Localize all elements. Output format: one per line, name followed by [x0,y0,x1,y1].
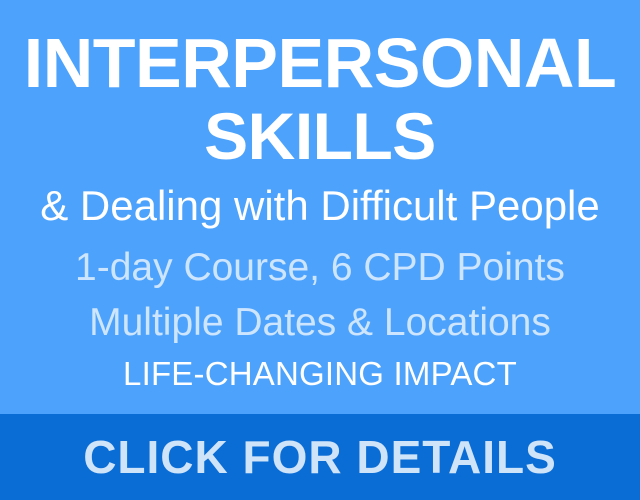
banner-body: INTERPERSONAL SKILLS & Dealing with Diff… [0,0,640,414]
detail-line-dates-locations: Multiple Dates & Locations [0,295,640,350]
advertisement-banner[interactable]: INTERPERSONAL SKILLS & Dealing with Diff… [0,0,640,500]
headline-line-secondary: SKILLS [0,100,640,172]
headline-block: INTERPERSONAL SKILLS [0,26,640,172]
detail-line-course-length: 1-day Course, 6 CPD Points [0,240,640,295]
cta-bar[interactable]: CLICK FOR DETAILS [0,414,640,500]
cta-label: CLICK FOR DETAILS [83,431,557,483]
subheadline: & Dealing with Difficult People [0,182,640,230]
impact-statement: LIFE-CHANGING IMPACT [0,354,640,394]
headline-line-primary: INTERPERSONAL [0,26,640,100]
course-details-list: 1-day Course, 6 CPD Points Multiple Date… [0,240,640,350]
